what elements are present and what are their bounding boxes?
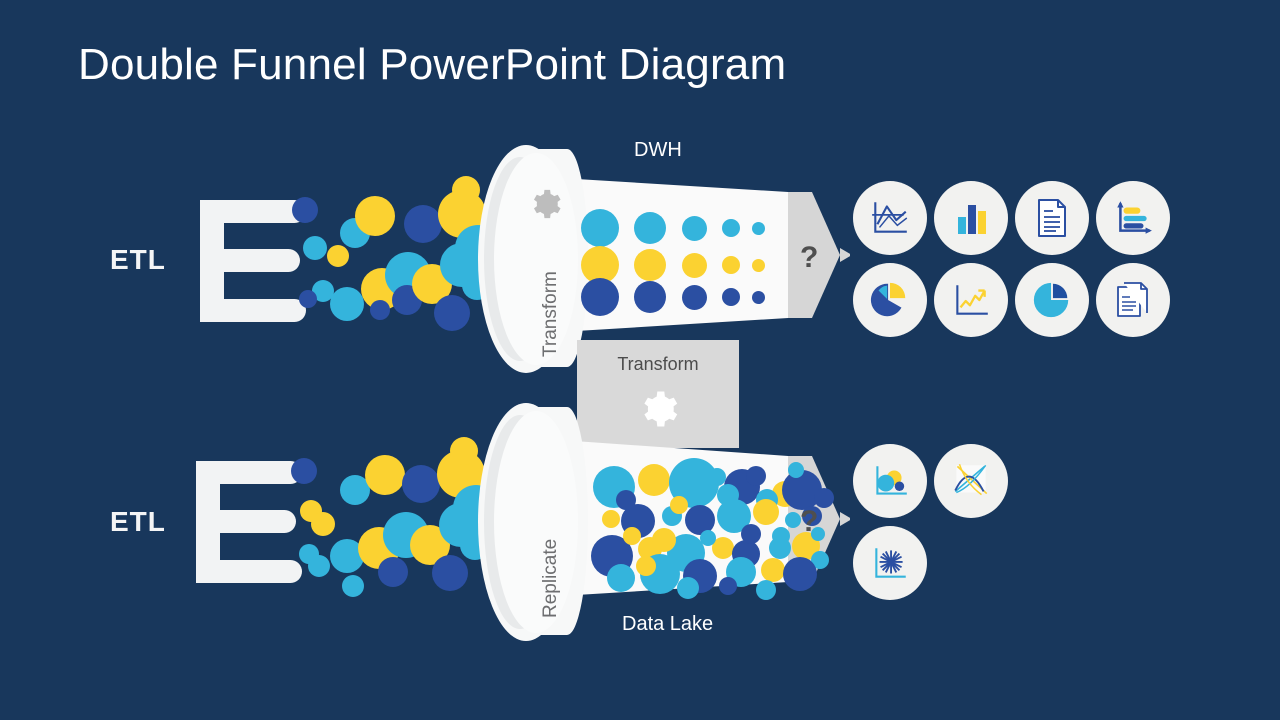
- data-lake-dot: [616, 490, 636, 510]
- transform-funnel: Transform: [478, 145, 588, 373]
- scatter-dot: [450, 437, 478, 465]
- data-lake-dot: [783, 557, 817, 591]
- scatter-dot: [452, 176, 480, 204]
- dwh-grid-dot: [752, 259, 765, 272]
- data-lake-dot: [638, 464, 670, 496]
- etl-e-glyph-bottom: [196, 461, 302, 583]
- bubble-chart-icon[interactable]: [853, 444, 927, 518]
- scatter-dot: [432, 555, 468, 591]
- transform-funnel-label: Transform: [540, 271, 562, 357]
- e-glyph-arm-bottom: [196, 560, 302, 583]
- dwh-grid-dot: [682, 216, 707, 241]
- data-lake-dot: [753, 499, 779, 525]
- etl-label-bottom: ETL: [110, 506, 166, 538]
- funnel-mouth-inner: [494, 153, 578, 365]
- document-icon[interactable]: [1015, 181, 1089, 255]
- scatter-dot: [311, 512, 335, 536]
- gear-icon: [528, 187, 562, 221]
- dwh-grid-dot: [634, 281, 666, 313]
- data-lake-dot: [700, 530, 716, 546]
- e-glyph-arm-top: [196, 461, 302, 484]
- e-glyph-arm-top: [200, 200, 306, 223]
- scatter-dot: [308, 555, 330, 577]
- data-lake-caption: Data Lake: [622, 613, 713, 636]
- dwh-grid-dot: [752, 222, 765, 235]
- scatter-dot: [342, 575, 364, 597]
- etl-e-glyph-top: [200, 200, 306, 322]
- data-lake-dot: [607, 564, 635, 592]
- dwh-grid-dot: [634, 249, 666, 281]
- data-lake-dot: [772, 527, 790, 545]
- funnel-mouth-inner: [494, 411, 578, 633]
- data-lake-dot: [746, 466, 766, 486]
- scatter-dot: [292, 197, 318, 223]
- radial-chart-icon[interactable]: [853, 526, 927, 600]
- dwh-grid-dot: [682, 285, 707, 310]
- scatter-dot: [330, 287, 364, 321]
- replicate-funnel-label: Replicate: [540, 539, 562, 618]
- dwh-grid-dot: [581, 209, 619, 247]
- dwh-grid-dot: [722, 288, 740, 306]
- scatter-dot: [303, 236, 327, 260]
- transform-connector-label: Transform: [577, 354, 739, 375]
- etl-label-top: ETL: [110, 244, 166, 276]
- dwh-output-question-mark: ?: [800, 241, 818, 275]
- data-lake-dot: [785, 512, 801, 528]
- dwh-grid-dot: [752, 291, 765, 304]
- dwh-grid-dot: [581, 278, 619, 316]
- multi-line-chart-icon[interactable]: [934, 444, 1008, 518]
- stacked-documents-icon[interactable]: [1096, 263, 1170, 337]
- page-title: Double Funnel PowerPoint Diagram: [78, 40, 786, 90]
- data-lake-dot: [677, 577, 699, 599]
- data-lake-dot: [761, 558, 785, 582]
- data-lake-dot: [741, 524, 761, 544]
- pie-chart-icon[interactable]: [1015, 263, 1089, 337]
- dwh-grid-dot: [722, 256, 740, 274]
- data-lake-dot: [602, 510, 620, 528]
- data-lake-output-question-mark: ?: [800, 505, 818, 539]
- dwh-grid-dot: [682, 253, 707, 278]
- pie-chart-exploded-icon[interactable]: [853, 263, 927, 337]
- e-glyph-arm-bottom: [200, 299, 306, 322]
- trend-line-icon[interactable]: [934, 263, 1008, 337]
- scatter-dot: [402, 465, 440, 503]
- data-lake-dot: [788, 462, 804, 478]
- scatter-dot: [434, 295, 470, 331]
- e-glyph-arm-middle: [200, 249, 300, 272]
- scatter-dot: [378, 557, 408, 587]
- scatter-dot: [291, 458, 317, 484]
- data-lake-dot: [670, 496, 688, 514]
- scatter-dot: [327, 245, 349, 267]
- data-lake-dot: [652, 528, 676, 552]
- horizontal-bar-chart-icon[interactable]: [1096, 181, 1170, 255]
- dwh-caption: DWH: [634, 139, 682, 162]
- dwh-grid-dot: [634, 212, 666, 244]
- dwh-grid-dot: [722, 219, 740, 237]
- data-lake-dot: [708, 468, 726, 486]
- scatter-dot: [365, 455, 405, 495]
- replicate-funnel: Replicate: [478, 403, 588, 641]
- slide-canvas: Double Funnel PowerPoint Diagram ETL Tra…: [0, 0, 1280, 720]
- data-lake-dot: [636, 556, 656, 576]
- bar-chart-icon[interactable]: [934, 181, 1008, 255]
- data-lake-dot: [623, 527, 641, 545]
- scatter-dot: [355, 196, 395, 236]
- scatter-dot: [299, 290, 317, 308]
- data-lake-dot: [756, 580, 776, 600]
- e-glyph-arm-middle: [196, 510, 296, 533]
- scatter-dot: [404, 205, 442, 243]
- scatter-dot: [370, 300, 390, 320]
- line-chart-icon[interactable]: [853, 181, 927, 255]
- data-lake-dot: [719, 577, 737, 595]
